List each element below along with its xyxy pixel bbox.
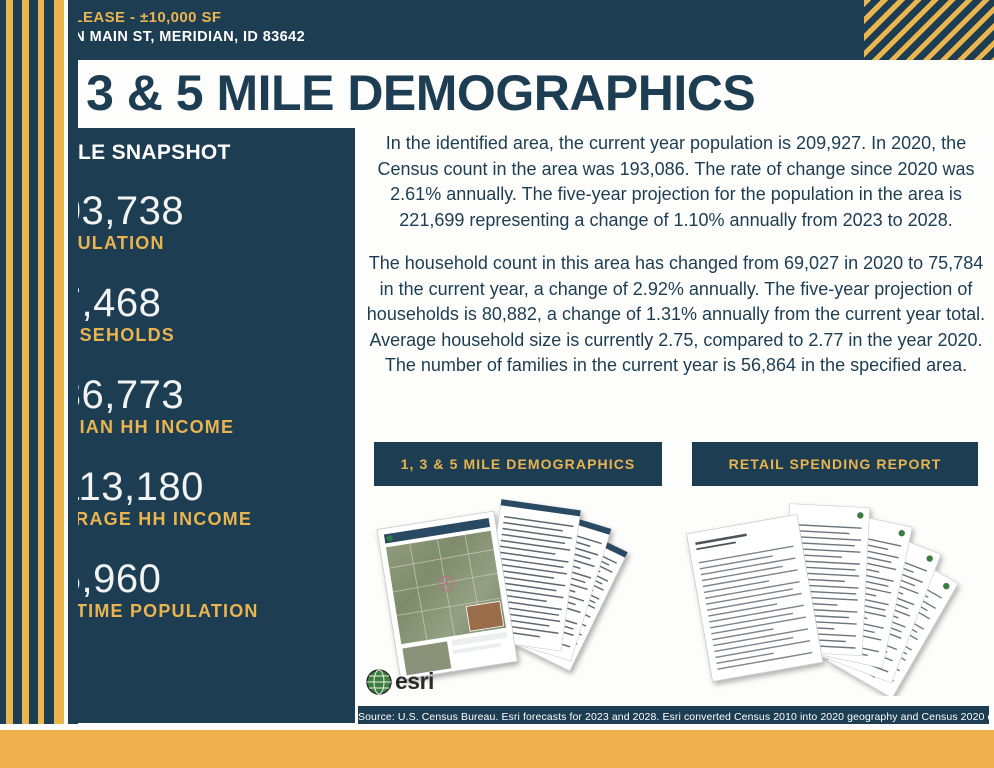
- demographics-report-button[interactable]: 1, 3 & 5 MILE DEMOGRAPHICS: [374, 442, 662, 486]
- retail-spending-report-button[interactable]: RETAIL SPENDING REPORT: [692, 442, 978, 486]
- stat-item: 45,960 DAYTIME POPULATION: [36, 556, 354, 622]
- demographics-flyer: FOR LEASE - ±10,000 SF 1600 N MAIN ST, M…: [0, 0, 994, 768]
- stripe-gap: [64, 0, 68, 768]
- main-content: In the identified area, the current year…: [358, 128, 994, 768]
- stat-label: MEDIAN HH INCOME: [36, 416, 354, 438]
- demographics-report-thumbnail[interactable]: esri: [362, 496, 662, 696]
- stat-item: $86,773 MEDIAN HH INCOME: [36, 372, 354, 438]
- source-text: Source: U.S. Census Bureau. Esri forecas…: [358, 711, 994, 723]
- stat-value: 45,960: [36, 556, 354, 602]
- gold-stripe: [54, 0, 64, 768]
- diagonal-stripes-decoration: [864, 0, 994, 60]
- header-bar: FOR LEASE - ±10,000 SF 1600 N MAIN ST, M…: [0, 0, 994, 60]
- stat-label: HOUSEHOLDS: [36, 324, 354, 346]
- left-stripe-band: [0, 0, 78, 768]
- stat-label: DAYTIME POPULATION: [36, 600, 354, 622]
- report-button-row: 1, 3 & 5 MILE DEMOGRAPHICS RETAIL SPENDI…: [364, 442, 988, 486]
- esri-globe-icon: [366, 669, 392, 695]
- stat-value: 37,468: [36, 280, 354, 326]
- retail-spending-report-thumbnail[interactable]: [682, 496, 982, 696]
- stat-item: 37,468 HOUSEHOLDS: [36, 280, 354, 346]
- stat-value: $113,180: [36, 464, 354, 510]
- page-title: 1, 3 & 5 MILE DEMOGRAPHICS: [32, 64, 755, 122]
- title-band: 1, 3 & 5 MILE DEMOGRAPHICS: [0, 60, 994, 128]
- population-paragraph: In the identified area, the current year…: [364, 131, 988, 233]
- stat-label: AVERAGE HH INCOME: [36, 508, 354, 530]
- household-paragraph: The household count in this area has cha…: [364, 251, 988, 379]
- esri-logo: esri: [366, 668, 434, 695]
- gold-stripe: [6, 0, 13, 768]
- stat-item: 103,738 POPULATION: [36, 188, 354, 254]
- report-thumbnails: esri: [358, 496, 994, 701]
- stat-item: $113,180 AVERAGE HH INCOME: [36, 464, 354, 530]
- stat-value: 103,738: [36, 188, 354, 234]
- retail-report-image: [682, 496, 982, 696]
- esri-wordmark: esri: [395, 668, 434, 695]
- gold-stripe: [22, 0, 29, 768]
- stat-label: POPULATION: [36, 232, 354, 254]
- bottom-gold-band: [0, 730, 994, 768]
- stat-value: $86,773: [36, 372, 354, 418]
- gold-stripe: [38, 0, 44, 768]
- stat-list: 103,738 POPULATION 37,468 HOUSEHOLDS $86…: [36, 188, 354, 648]
- demographics-report-image: [362, 496, 662, 696]
